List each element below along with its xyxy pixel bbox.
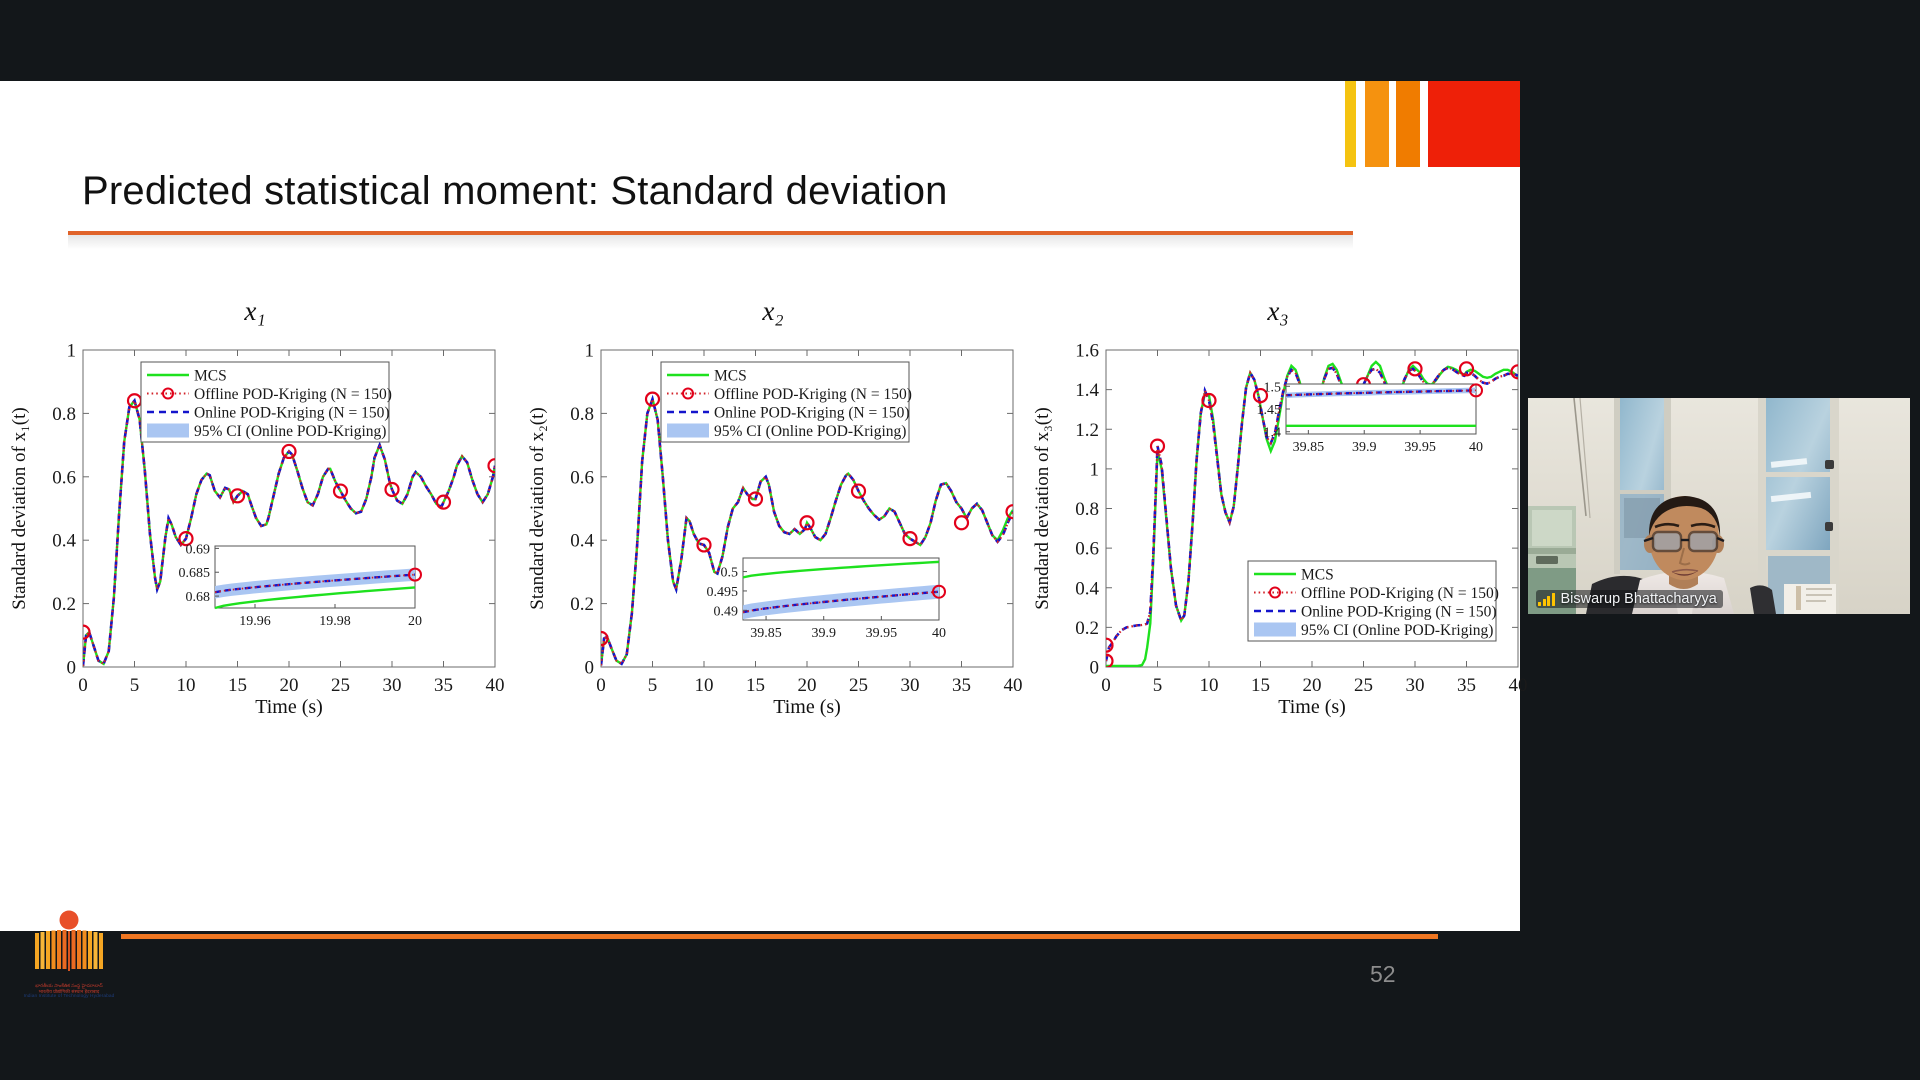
x-axis-label: Time (s) bbox=[773, 696, 841, 718]
panel-title: x₃ bbox=[1028, 296, 1528, 327]
legend: MCSOffline POD-Kriging (N = 150)Online P… bbox=[661, 362, 912, 442]
x-axis-label: Time (s) bbox=[1278, 696, 1346, 718]
svg-text:0.69: 0.69 bbox=[186, 542, 211, 557]
chart-panel-2: x₂051015202530354000.20.40.60.81Time (s)… bbox=[523, 296, 1023, 726]
legend-label: Offline POD-Kriging (N = 150) bbox=[714, 386, 912, 403]
legend-label: MCS bbox=[194, 368, 227, 385]
svg-text:5: 5 bbox=[1153, 675, 1163, 696]
svg-text:40: 40 bbox=[486, 675, 505, 696]
svg-text:39.9: 39.9 bbox=[811, 626, 836, 641]
svg-text:39.95: 39.95 bbox=[866, 626, 898, 641]
accent-bar-orange-1 bbox=[1365, 81, 1389, 167]
svg-text:20: 20 bbox=[280, 675, 299, 696]
logo-caption: భారతీయ సాంకేతిక సంస్థ హైదరాబాద్ भारतीय प… bbox=[18, 983, 120, 1000]
svg-text:25: 25 bbox=[1354, 675, 1373, 696]
footer-rule bbox=[121, 934, 1438, 939]
svg-text:0.68: 0.68 bbox=[186, 590, 211, 605]
legend-label: Online POD-Kriging (N = 150) bbox=[194, 405, 390, 422]
page-title: Predicted statistical moment: Standard d… bbox=[82, 169, 948, 214]
svg-text:0.6: 0.6 bbox=[1075, 539, 1099, 560]
webcam-video-feed bbox=[1528, 398, 1910, 614]
svg-text:5: 5 bbox=[648, 675, 658, 696]
plot-area: 051015202530354000.20.40.60.811.21.41.6T… bbox=[1028, 336, 1528, 721]
svg-text:1.45: 1.45 bbox=[1257, 403, 1282, 418]
svg-text:1.6: 1.6 bbox=[1075, 341, 1099, 362]
panel-title: x₂ bbox=[523, 296, 1023, 327]
svg-text:0: 0 bbox=[596, 675, 606, 696]
svg-text:0: 0 bbox=[1090, 658, 1100, 679]
svg-text:0.5: 0.5 bbox=[721, 566, 739, 581]
accent-bar-orange-2 bbox=[1396, 81, 1420, 167]
svg-text:0.8: 0.8 bbox=[1075, 499, 1099, 520]
audio-level-icon bbox=[1538, 592, 1555, 606]
x-axis-label: Time (s) bbox=[255, 696, 323, 718]
accent-bar-red bbox=[1428, 81, 1520, 167]
svg-text:5: 5 bbox=[130, 675, 140, 696]
presentation-slide: Predicted statistical moment: Standard d… bbox=[0, 81, 1520, 931]
plot-panel-x1: 051015202530354000.20.40.60.81Time (s)St… bbox=[5, 336, 505, 721]
title-underline-shadow bbox=[68, 235, 1353, 249]
svg-text:15: 15 bbox=[1251, 675, 1270, 696]
svg-text:0.2: 0.2 bbox=[570, 594, 594, 615]
svg-text:0: 0 bbox=[78, 675, 88, 696]
y-axis-label: Standard deviation of x₁(t) bbox=[9, 407, 30, 609]
svg-text:19.98: 19.98 bbox=[319, 614, 351, 629]
svg-text:25: 25 bbox=[331, 675, 350, 696]
legend-label: 95% CI (Online POD-Kriging) bbox=[194, 423, 386, 440]
svg-text:39.9: 39.9 bbox=[1352, 440, 1377, 455]
svg-text:0.6: 0.6 bbox=[570, 467, 594, 488]
y-axis-label: Standard deviation of x₂(t) bbox=[527, 407, 548, 609]
svg-text:35: 35 bbox=[1457, 675, 1476, 696]
legend: MCSOffline POD-Kriging (N = 150)Online P… bbox=[141, 362, 392, 442]
svg-text:1: 1 bbox=[1090, 459, 1100, 480]
svg-text:1.5: 1.5 bbox=[1264, 380, 1282, 395]
participant-name: Biswarup Bhattacharyya bbox=[1561, 591, 1717, 607]
legend-label: MCS bbox=[714, 368, 747, 385]
legend: MCSOffline POD-Kriging (N = 150)Online P… bbox=[1248, 561, 1499, 641]
svg-text:20: 20 bbox=[1303, 675, 1322, 696]
svg-text:1.4: 1.4 bbox=[1264, 426, 1282, 441]
legend-label: Offline POD-Kriging (N = 150) bbox=[194, 386, 392, 403]
accent-bar-yellow bbox=[1345, 81, 1356, 167]
svg-text:0.4: 0.4 bbox=[570, 531, 594, 552]
svg-text:30: 30 bbox=[383, 675, 402, 696]
svg-text:15: 15 bbox=[228, 675, 247, 696]
svg-text:30: 30 bbox=[1406, 675, 1425, 696]
chart-panel-1: x₁051015202530354000.20.40.60.81Time (s)… bbox=[5, 296, 505, 726]
svg-text:0.685: 0.685 bbox=[179, 566, 211, 581]
svg-text:0.6: 0.6 bbox=[52, 467, 76, 488]
svg-text:1: 1 bbox=[67, 341, 77, 362]
svg-text:39.85: 39.85 bbox=[1293, 440, 1325, 455]
svg-text:40: 40 bbox=[1509, 675, 1528, 696]
svg-text:0: 0 bbox=[67, 658, 77, 679]
svg-text:40: 40 bbox=[1004, 675, 1023, 696]
svg-text:10: 10 bbox=[695, 675, 714, 696]
svg-text:30: 30 bbox=[901, 675, 920, 696]
svg-text:35: 35 bbox=[434, 675, 453, 696]
plot-area: 051015202530354000.20.40.60.81Time (s)St… bbox=[5, 336, 505, 721]
svg-text:0.4: 0.4 bbox=[1075, 578, 1099, 599]
svg-text:10: 10 bbox=[177, 675, 196, 696]
chart-panel-3: x₃051015202530354000.20.40.60.811.21.41.… bbox=[1028, 296, 1528, 726]
figure-row: x₁051015202530354000.20.40.60.81Time (s)… bbox=[0, 296, 1520, 726]
participant-video-tile[interactable]: Biswarup Bhattacharyya bbox=[1528, 398, 1910, 614]
svg-text:0.8: 0.8 bbox=[570, 404, 594, 425]
logo-caption-en: Indian Institute of Technology Hyderabad bbox=[18, 994, 120, 1000]
svg-text:20: 20 bbox=[408, 614, 422, 629]
legend-label: 95% CI (Online POD-Kriging) bbox=[1301, 622, 1493, 639]
plot-panel-x3: 051015202530354000.20.40.60.811.21.41.6T… bbox=[1028, 336, 1528, 721]
svg-text:10: 10 bbox=[1200, 675, 1219, 696]
svg-text:39.85: 39.85 bbox=[750, 626, 782, 641]
legend-label: Offline POD-Kriging (N = 150) bbox=[1301, 585, 1499, 602]
svg-text:0.8: 0.8 bbox=[52, 404, 76, 425]
svg-text:40: 40 bbox=[1469, 440, 1483, 455]
legend-label: 95% CI (Online POD-Kriging) bbox=[714, 423, 906, 440]
y-axis-label: Standard deviation of x₃(t) bbox=[1032, 407, 1053, 609]
plot-area: 051015202530354000.20.40.60.81Time (s)St… bbox=[523, 336, 1023, 721]
svg-text:0.49: 0.49 bbox=[714, 604, 739, 619]
slide-number: 52 bbox=[1370, 961, 1396, 988]
screen: Predicted statistical moment: Standard d… bbox=[0, 0, 1920, 1080]
svg-text:1.4: 1.4 bbox=[1075, 380, 1099, 401]
participant-nameplate: Biswarup Bhattacharyya bbox=[1536, 590, 1723, 608]
svg-text:15: 15 bbox=[746, 675, 765, 696]
svg-text:25: 25 bbox=[849, 675, 868, 696]
svg-text:0: 0 bbox=[585, 658, 595, 679]
svg-text:0.495: 0.495 bbox=[707, 585, 739, 600]
svg-text:19.96: 19.96 bbox=[239, 614, 271, 629]
legend-label: Online POD-Kriging (N = 150) bbox=[1301, 604, 1497, 621]
legend-label: MCS bbox=[1301, 567, 1334, 584]
legend-label: Online POD-Kriging (N = 150) bbox=[714, 405, 910, 422]
svg-text:0.2: 0.2 bbox=[52, 594, 76, 615]
panel-title: x₁ bbox=[5, 296, 505, 327]
svg-text:20: 20 bbox=[798, 675, 817, 696]
svg-text:39.95: 39.95 bbox=[1404, 440, 1436, 455]
svg-text:0: 0 bbox=[1101, 675, 1111, 696]
svg-text:1: 1 bbox=[585, 341, 595, 362]
svg-text:35: 35 bbox=[952, 675, 971, 696]
plot-panel-x2: 051015202530354000.20.40.60.81Time (s)St… bbox=[523, 336, 1023, 721]
iith-logo: భారతీయ సాంకేతిక సంస్థ హైదరాబాద్ भारतीय प… bbox=[18, 909, 120, 1005]
svg-text:1.2: 1.2 bbox=[1075, 420, 1099, 441]
svg-text:0.4: 0.4 bbox=[52, 531, 76, 552]
svg-text:40: 40 bbox=[932, 626, 946, 641]
svg-text:0.2: 0.2 bbox=[1075, 618, 1099, 639]
